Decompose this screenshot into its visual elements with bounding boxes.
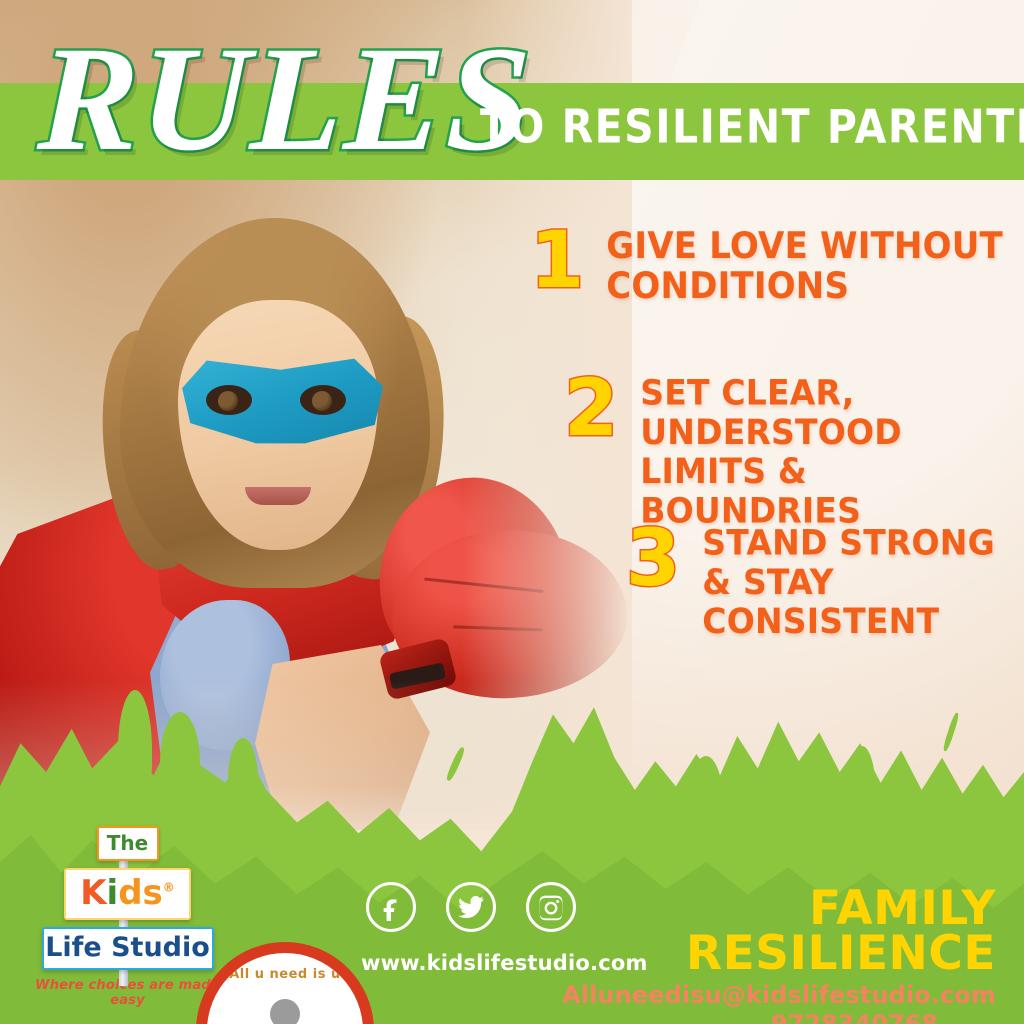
splash-drop — [74, 792, 96, 810]
facebook-icon[interactable] — [366, 882, 416, 932]
rule-item: 1 GIVE LOVE WITHOUT CONDITIONS — [530, 226, 1003, 302]
splash-spike — [848, 746, 876, 842]
logo-kids-k: K — [80, 873, 106, 913]
rule-text-line1: STAND STRONG — [702, 524, 1016, 563]
logo-kids-i: i — [107, 873, 119, 913]
logo-kids-registered: ® — [163, 881, 175, 895]
rule-text: GIVE LOVE WITHOUT CONDITIONS — [606, 226, 1003, 307]
rule-item: 3 STAND STRONG & STAY CONSISTENT — [626, 524, 1016, 635]
logo-sign-life-studio: Life Studio — [42, 927, 214, 970]
social-links — [366, 882, 576, 932]
splash-spike — [160, 712, 200, 816]
figure-head — [270, 999, 300, 1024]
eye-left — [206, 385, 252, 415]
contact-block: FAMILY RESILIENCE Alluneedisu@kidslifest… — [562, 886, 996, 1024]
mouth-shape — [245, 487, 311, 505]
rule-text-line1: GIVE LOVE WITHOUT — [606, 226, 1003, 266]
splash-spike — [228, 738, 258, 822]
rule-number: 3 — [626, 524, 680, 596]
logo-kids-d: d — [118, 873, 142, 913]
poster-canvas: RULES TO RESILIENT PARENTING 1 GIVE LOVE… — [0, 0, 1024, 1024]
logo-sign-kids: Kids® — [64, 868, 191, 920]
page-title: RULES — [35, 24, 511, 204]
rule-text-line2: LIMITS & BOUNDRIES — [640, 452, 1016, 530]
rule-text: STAND STRONG & STAY CONSISTENT — [702, 524, 1016, 642]
rule-text: SET CLEAR, UNDERSTOOD LIMITS & BOUNDRIES — [640, 374, 1016, 531]
splash-spike — [688, 756, 724, 862]
contact-title-line2: RESILIENCE — [562, 931, 996, 976]
rule-text-line1: SET CLEAR, UNDERSTOOD — [640, 374, 1016, 452]
hero-figure-icon: Fundación Heroe El super que hay dentro … — [252, 999, 318, 1024]
logo-kids-s: s — [143, 873, 163, 913]
contact-title-line1: FAMILY — [562, 886, 996, 931]
eye-right — [300, 385, 346, 415]
splash-spike — [118, 690, 152, 810]
splash-drop — [508, 826, 522, 837]
page-subtitle: TO RESILIENT PARENTING — [480, 100, 1024, 154]
logo-sign-the: The — [97, 826, 159, 861]
twitter-icon[interactable] — [446, 882, 496, 932]
brand-logo[interactable]: The Kids® Life Studio Where choices are … — [35, 826, 220, 1008]
rule-text-line2: & STAY CONSISTENT — [702, 563, 1016, 641]
contact-email[interactable]: Alluneedisu@kidslifestudio.com — [562, 981, 996, 1009]
badge-top-text: All u need is u — [207, 967, 363, 982]
rule-number: 2 — [564, 374, 618, 446]
contact-phone[interactable]: 9728340768 — [562, 1010, 938, 1024]
rule-item: 2 SET CLEAR, UNDERSTOOD LIMITS & BOUNDRI… — [564, 374, 1016, 522]
rule-number: 1 — [530, 226, 584, 298]
rule-text-line2: CONDITIONS — [606, 266, 1003, 306]
